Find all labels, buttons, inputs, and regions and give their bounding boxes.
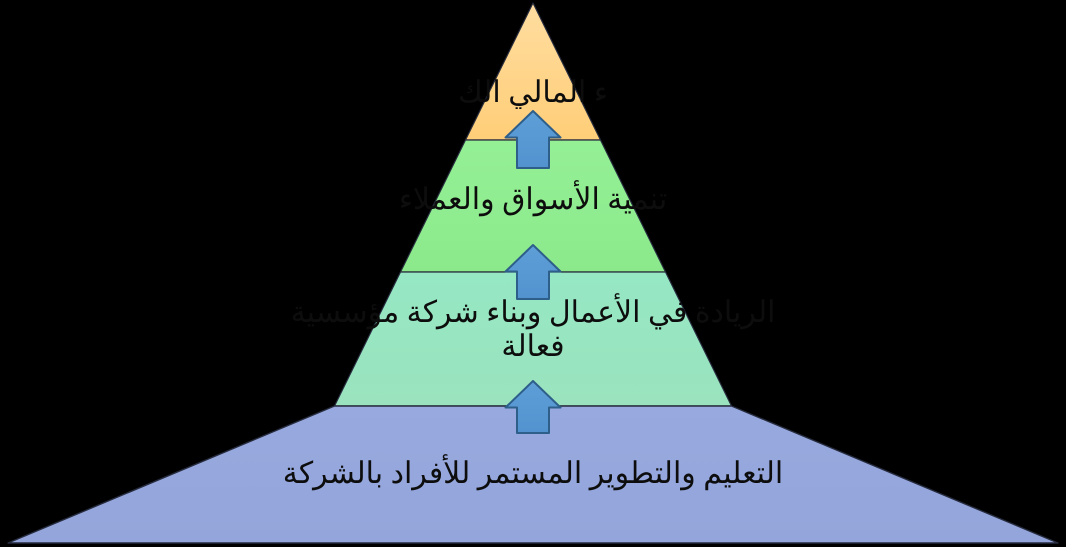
pyramid-shape-group [0,0,1066,547]
pyramid-diagram-canvas: ء المالي الك تنمية الأسواق والعملاء الري… [0,0,1066,547]
